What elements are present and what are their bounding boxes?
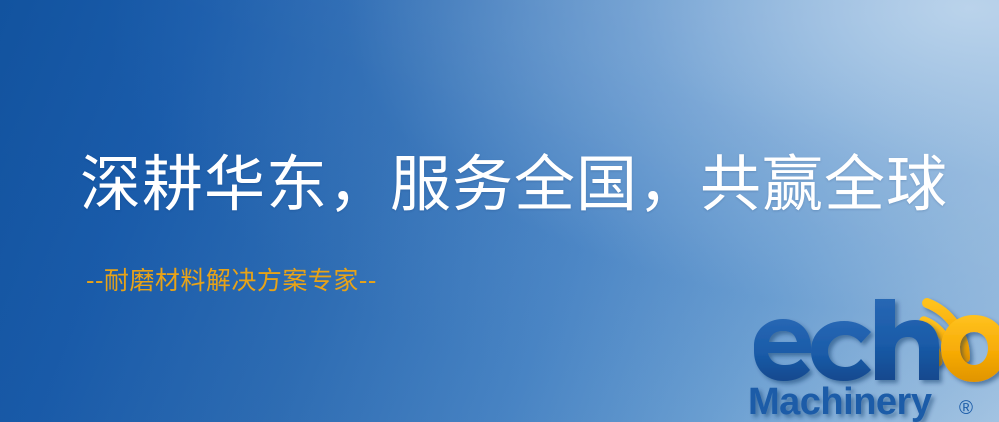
page-title: 深耕华东，服务全国，共赢全球 xyxy=(80,152,948,218)
registered-trademark-mark: ® xyxy=(959,398,973,419)
echo-machinery-logo[interactable]: Machinery ® xyxy=(744,296,999,422)
logo-tagline: Machinery xyxy=(748,381,932,422)
hero-banner: 深耕华东，服务全国，共赢全球 --耐磨材料解决方案专家-- xyxy=(0,0,999,422)
logo-wordmark-ech xyxy=(754,299,939,381)
banner-subtitle: --耐磨材料解决方案专家-- xyxy=(86,266,377,296)
